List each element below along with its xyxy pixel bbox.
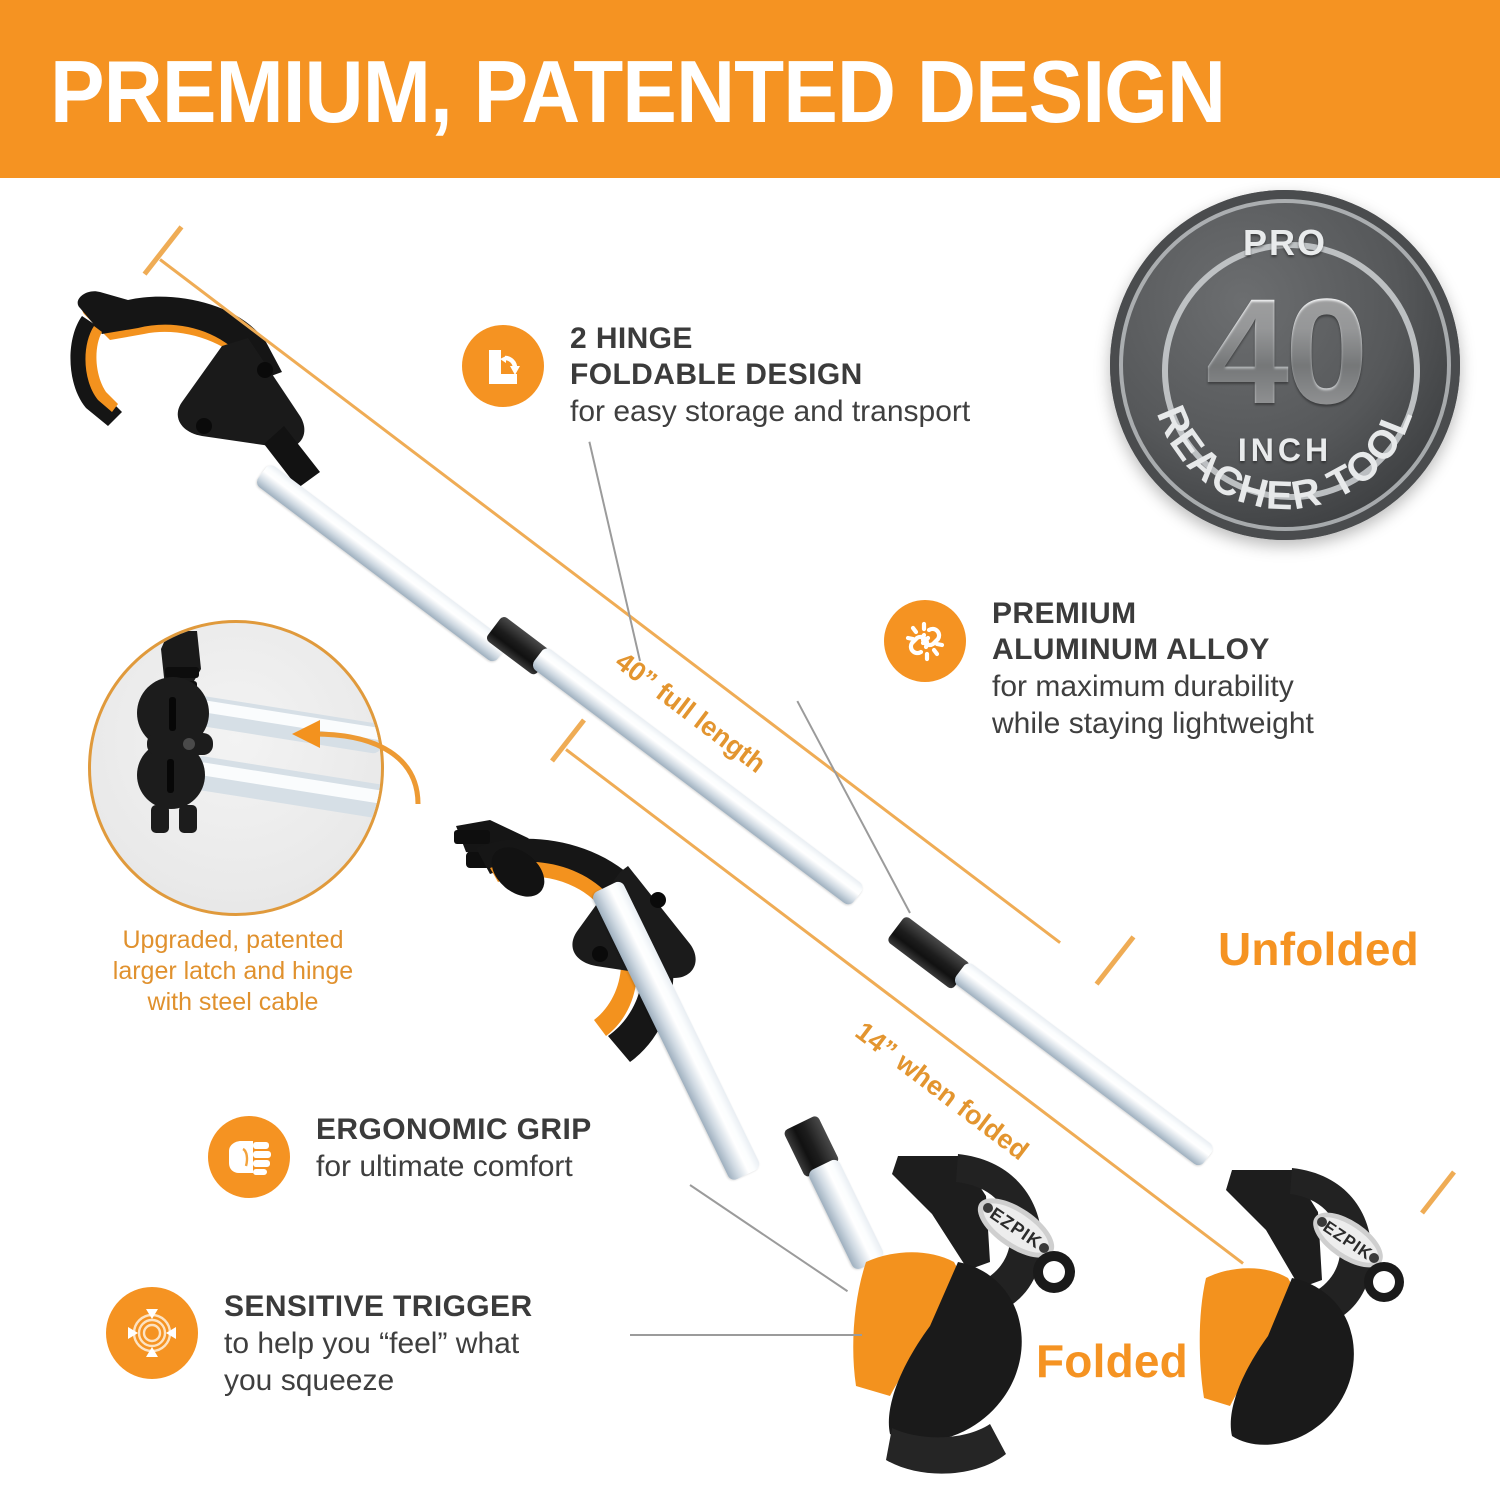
chain-link-icon [884,600,966,682]
reacher-jaw-folded [432,808,762,1108]
feature-subtitle: for ultimate comfort [316,1148,776,1185]
dimension-14-label: 14” when folded [849,1016,1034,1167]
magnifier-caption-line3: with steel cable [80,987,386,1018]
leader-line-trigger [630,1334,862,1336]
label-folded: Folded [1036,1334,1188,1388]
fold-hinge-icon [462,325,544,407]
magnifier-caption-line2: larger latch and hinge [80,956,386,987]
label-unfolded: Unfolded [1218,922,1419,976]
dimension-40-tick-start [143,225,184,275]
magnifier-caption: Upgraded, patented larger latch and hing… [80,925,386,1018]
reacher-jaw-unfolded [52,276,352,506]
dimension-40-tick-end [1095,935,1136,985]
badge-arc-label: REACHER TOOL [1148,400,1422,519]
svg-text:REACHER TOOL: REACHER TOOL [1148,400,1422,519]
page-title: PREMIUM, PATENTED DESIGN [50,46,1371,138]
magnifier-pointer-arrow [268,700,428,820]
magnifier-caption-line1: Upgraded, patented [80,925,386,956]
feature-title-line1: PREMIUM [992,596,1500,632]
feature-title-line1: SENSITIVE TRIGGER [224,1289,664,1325]
feature-subtitle-line1: to help you “feel” what [224,1325,664,1362]
feature-title-line2: FOLDABLE DESIGN [570,357,1090,393]
handle-folded: EZPIK [800,1150,1100,1490]
feature-subtitle-line2: you squeeze [224,1362,664,1399]
feature-subtitle-line2: while staying lightweight [992,705,1500,742]
feature-title-line1: ERGONOMIC GRIP [316,1112,776,1148]
feature-title-line2: ALUMINUM ALLOY [992,632,1500,668]
badge-arc-text: REACHER TOOL [1110,190,1460,540]
leader-line-hinge [588,442,641,662]
pro-40-inch-badge: PRO 40 INCH REACHER TOOL [1110,190,1460,540]
handle-unfolded: EZPIK [1196,1160,1426,1460]
feature-subtitle-line1: for maximum durability [992,668,1500,705]
fist-grip-icon [208,1116,290,1198]
feature-subtitle: for easy storage and transport [570,393,1090,430]
sensitive-target-icon [106,1287,198,1379]
feature-title-line1: 2 HINGE [570,321,1090,357]
dimension-14-tick-start [550,718,586,762]
